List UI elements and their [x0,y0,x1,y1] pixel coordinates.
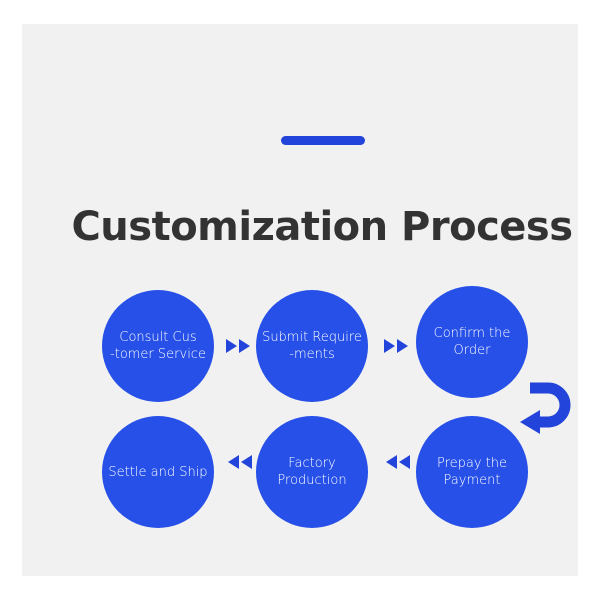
flow-step-prepay-the-payment[interactable]: Prepay the Payment [416,416,528,528]
flow-step-label: Factory Production [273,455,350,489]
flow-step-label: Confirm the Order [430,325,515,359]
u-turn-arrow-icon [518,374,578,436]
infographic-panel: Customization Process Consult Cus -tomer… [22,24,578,576]
flow-step-label: Settle and Ship [104,464,211,481]
flow-step-label: Submit Require -ments [258,329,366,363]
flow-step-factory-production[interactable]: Factory Production [256,416,368,528]
flow-step-confirm-the-order[interactable]: Confirm the Order [416,286,528,398]
page-title: Customization Process [22,204,600,250]
double-chevron-right-icon [384,338,410,354]
flow-step-consult-customer-service[interactable]: Consult Cus -tomer Service [102,290,214,402]
double-chevron-left-icon [384,454,410,470]
double-chevron-right-icon [226,338,252,354]
flow-step-submit-requirements[interactable]: Submit Require -ments [256,290,368,402]
flow-step-settle-and-ship[interactable]: Settle and Ship [102,416,214,528]
flow-step-label: Prepay the Payment [433,455,511,489]
decorative-accent-bar [281,136,365,145]
flow-step-label: Consult Cus -tomer Service [106,329,210,363]
double-chevron-left-icon [226,454,252,470]
